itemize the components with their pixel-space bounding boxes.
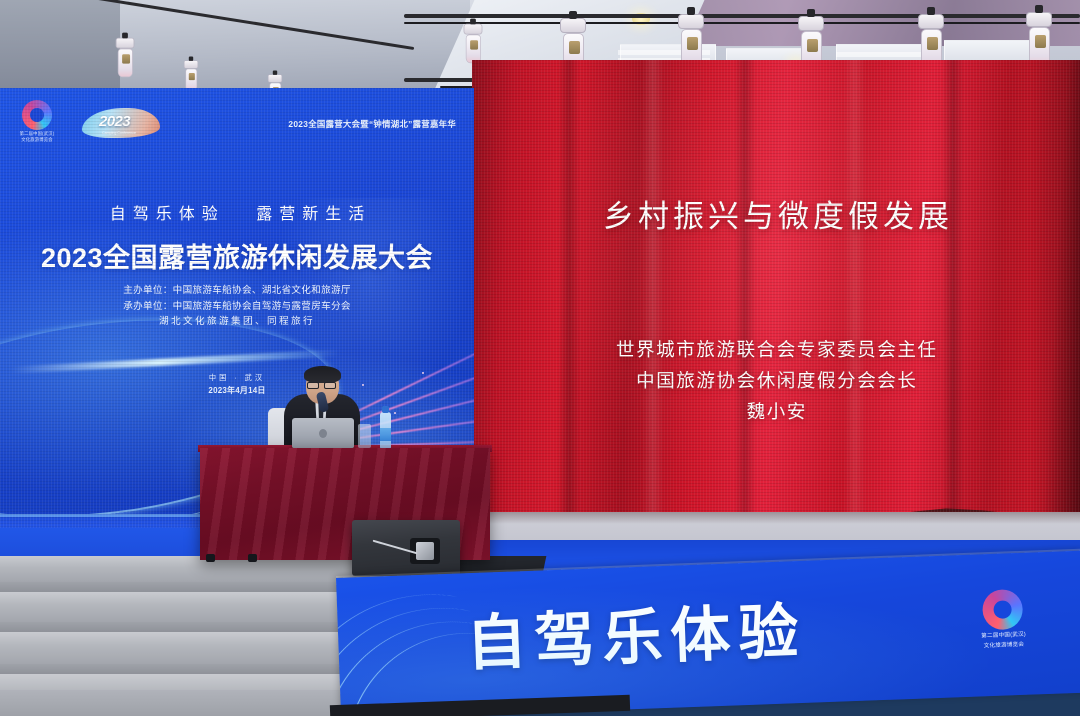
organizer-line-3: 湖北文化旅游集团、同程旅行: [0, 314, 474, 330]
banner-logo-line-1: 第二届中国(武汉): [968, 631, 1038, 641]
stage-back-wall-shadow: [472, 512, 1080, 524]
light-lens: [122, 54, 130, 63]
lighting-truss-upper: [404, 14, 1080, 18]
banner-logo-line-2: 文化旅游博览会: [969, 641, 1039, 651]
curtain-fold: [642, 60, 664, 544]
floor-monitor-speaker: [352, 520, 460, 576]
light-yoke: [464, 24, 483, 35]
curtain-fold: [844, 60, 866, 544]
expo-swirl-icon: 第二届中国(武汉) 文化旅游博览会: [8, 100, 66, 150]
tagline-part-b: 露营新生活: [256, 206, 371, 223]
ceiling-shadow-left: [0, 0, 120, 96]
light-clamp: [1035, 5, 1043, 13]
eyeglasses-icon: [324, 382, 336, 389]
light-yoke: [116, 38, 135, 49]
curtain-fold: [558, 60, 580, 544]
light-yoke: [678, 14, 704, 29]
light-clamp: [927, 7, 935, 15]
curtain-fold: [942, 60, 964, 544]
curtain-fold: [1028, 60, 1080, 544]
backdrop-place-date: 中国 · 武汉 2023年4月14日: [0, 373, 474, 396]
presenter-hair: [304, 366, 341, 383]
light-lens: [927, 37, 938, 50]
logo-year: 2023: [99, 113, 130, 130]
slide-speaker-block: 世界城市旅游联合会专家委员会主任 中国旅游协会休闲度假分会会长 魏小安: [472, 334, 1080, 427]
organizer-line-2: 承办单位：中国旅游车船协会自驾游与露营房车分会: [0, 299, 474, 315]
organizer-line-1: 主办单位：中国旅游车船协会、湖北省文化和旅游厅: [0, 283, 474, 299]
light-clamp: [122, 33, 128, 39]
backdrop-header: 第二届中国(武汉) 文化旅游博览会 2023 Camping Conferenc…: [0, 88, 474, 148]
light-body: [117, 48, 132, 77]
speaker-horn: [416, 542, 434, 560]
slide-title: 乡村振兴与微度假发展: [472, 191, 1080, 236]
speaker-credential-1: 世界城市旅游联合会专家委员会主任: [472, 334, 1080, 365]
curtain-fold: [734, 60, 756, 544]
light-body: [465, 35, 480, 64]
swirl-glyph: [982, 589, 1023, 630]
event-city: 中国 · 武汉: [0, 373, 474, 383]
light-clamp: [470, 19, 476, 25]
table-leg: [206, 554, 215, 562]
laptop: [292, 418, 354, 448]
expo-logo-line-2: 文化旅游博览会: [8, 137, 66, 142]
light-yoke: [1026, 12, 1052, 27]
light-lens: [569, 41, 580, 54]
light-clamp: [807, 9, 815, 17]
backdrop-organizers: 主办单位：中国旅游车船协会、湖北省文化和旅游厅 承办单位：中国旅游车船协会自驾游…: [0, 283, 474, 330]
table-leg: [248, 554, 257, 562]
light-yoke: [184, 60, 198, 68]
speaker-name: 魏小安: [472, 396, 1080, 427]
tagline-part-a: 自驾乐体验: [110, 206, 225, 223]
conference-stage-photo: 乡村振兴与微度假发展 世界城市旅游联合会专家委员会主任 中国旅游协会休闲度假分会…: [0, 0, 1080, 716]
stage-light: [464, 24, 483, 64]
light-clamp: [687, 7, 695, 15]
truss-cable: [404, 22, 1080, 24]
bottle-cap: [382, 406, 389, 413]
swirl-glyph: [22, 100, 52, 130]
light-lens: [807, 39, 818, 52]
light-lens: [687, 37, 698, 50]
light-clamp: [569, 11, 577, 19]
light-clamp: [189, 57, 193, 61]
light-yoke: [560, 18, 586, 33]
expo-swirl-icon: 第二届中国(武汉) 文化旅游博览会: [967, 588, 1039, 651]
light-lens: [470, 40, 478, 49]
light-yoke: [268, 74, 282, 82]
presentation-led-screen: 乡村振兴与微度假发展 世界城市旅游联合会专家委员会主任 中国旅游协会休闲度假分会…: [472, 60, 1080, 544]
sparkle: [394, 412, 396, 414]
light-lens: [189, 73, 195, 80]
stage-light: [1026, 12, 1052, 67]
event-date: 2023年4月14日: [0, 385, 474, 396]
stage-light: [116, 38, 135, 78]
drinking-glass: [358, 424, 371, 448]
water-bottle: [380, 412, 391, 450]
stage-front-banner: 自驾乐体验 第二届中国(武汉) 文化旅游博览会: [336, 551, 1080, 716]
ceiling-slat: [836, 52, 928, 57]
eyeglasses-icon: [307, 382, 319, 389]
banner-light-streak: [336, 571, 606, 716]
light-lens: [1035, 35, 1046, 48]
laptop-logo-icon: [319, 429, 327, 438]
backdrop-main-title: 2023全国露营旅游休闲发展大会: [0, 236, 474, 275]
light-clamp: [273, 71, 277, 75]
backdrop-kicker: 2023全国露营大会暨“钟情湖北”露营嘉年华: [288, 118, 456, 130]
light-yoke: [798, 16, 824, 31]
stage-light: [184, 60, 198, 90]
bottle-label: [380, 428, 391, 441]
banner-headline: 自驾乐体验: [465, 583, 808, 682]
light-yoke: [918, 14, 944, 29]
camping-2023-logo-icon: 2023 Camping Conference: [82, 102, 160, 148]
backdrop-tagline: 自驾乐体验 露营新生活: [0, 200, 474, 224]
speaker-credential-2: 中国旅游协会休闲度假分会会长: [472, 365, 1080, 396]
expo-logo-line-1: 第二届中国(武汉): [8, 131, 66, 136]
logo-subtitle: Camping Conference: [102, 131, 136, 135]
